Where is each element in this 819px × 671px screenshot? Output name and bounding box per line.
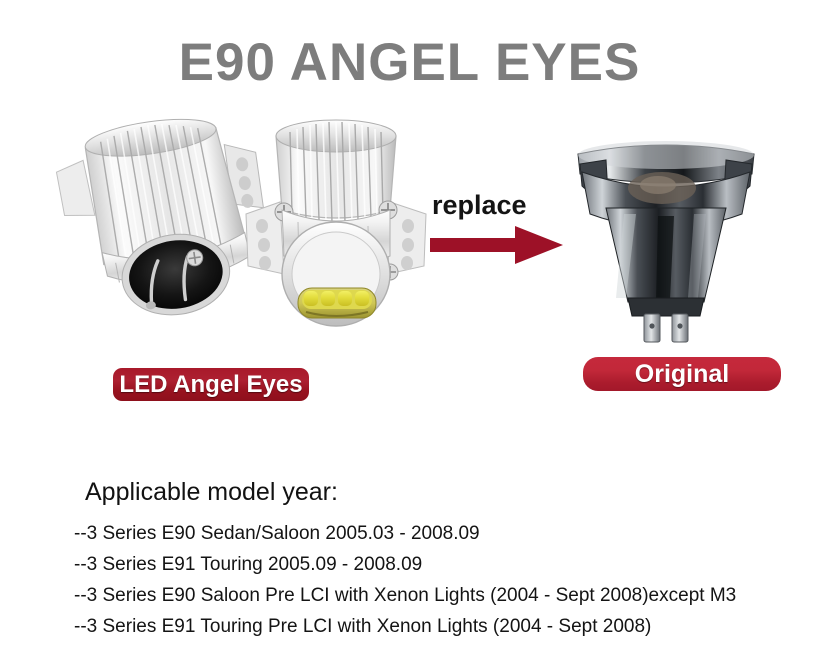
list-item: --3 Series E91 Touring Pre LCI with Xeno… xyxy=(74,611,814,642)
badge-led-label: LED Angel Eyes xyxy=(119,371,302,399)
applicability-list: --3 Series E90 Sedan/Saloon 2005.03 - 20… xyxy=(74,518,814,642)
original-halogen-bulb-icon xyxy=(566,130,766,345)
led-angel-eye-bulb-icon xyxy=(44,102,444,352)
list-item: --3 Series E90 Sedan/Saloon 2005.03 - 20… xyxy=(74,518,814,549)
page-title: E90 ANGEL EYES xyxy=(0,36,819,89)
replace-label: replace xyxy=(432,192,527,219)
applicability-heading: Applicable model year: xyxy=(85,480,338,505)
list-item: --3 Series E91 Touring 2005.09 - 2008.09 xyxy=(74,549,814,580)
status-badge-led-angel-eyes: LED Angel Eyes xyxy=(113,368,309,401)
replace-arrow-icon xyxy=(429,226,564,266)
badge-original-label: Original xyxy=(635,360,729,389)
product-stage xyxy=(0,100,819,360)
list-item: --3 Series E90 Saloon Pre LCI with Xenon… xyxy=(74,580,814,611)
status-badge-original: Original xyxy=(583,357,781,391)
